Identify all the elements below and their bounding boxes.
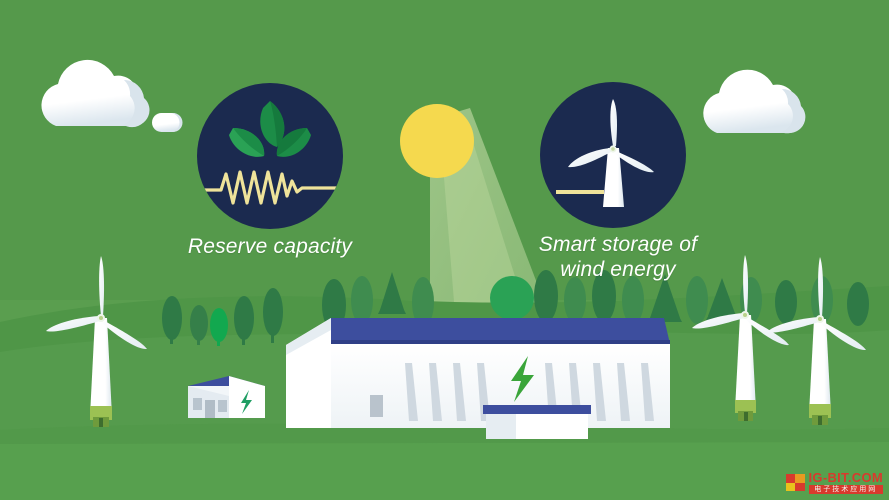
warehouse-side-door (370, 395, 383, 417)
watermark-subtitle: 电子技术应用网 (809, 485, 884, 494)
front-annex (483, 405, 591, 439)
illustration-canvas: Reserve capacity Smart storage of wind e… (0, 0, 889, 500)
ig-bit-watermark: IG-BIT.COM 电子技术应用网 (786, 471, 884, 494)
watermark-logo-icon (786, 474, 805, 491)
house-window-right (218, 400, 227, 412)
house-window-left (193, 398, 202, 410)
watermark-text: IG-BIT.COM 电子技术应用网 (809, 471, 884, 494)
annex-wall-shade (486, 414, 516, 439)
badge-baseline (556, 190, 604, 194)
annex-roof (483, 405, 591, 414)
scene-svg (0, 0, 889, 500)
cloud-small-left (152, 113, 183, 132)
sun (400, 104, 474, 178)
smart-storage-badge[interactable] (540, 82, 686, 228)
watermark-brand: IG-BIT.COM (809, 471, 884, 484)
storage-warehouse (286, 318, 670, 428)
reserve-capacity-badge[interactable] (197, 83, 343, 229)
house-door (205, 400, 215, 418)
